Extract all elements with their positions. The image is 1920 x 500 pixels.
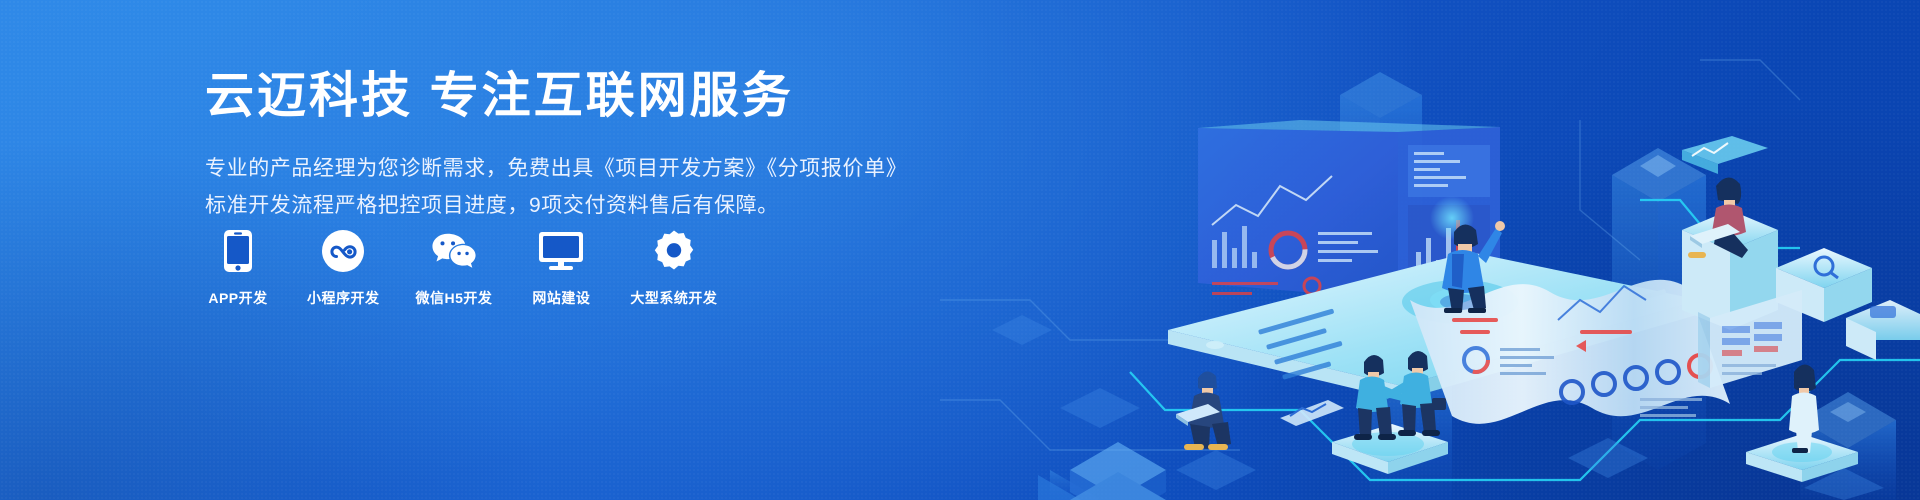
mobile-phone-icon [215,228,261,274]
service-item-large-system[interactable]: 大型系统开发 [630,228,717,308]
service-label: 大型系统开发 [630,288,717,308]
service-label: 微信H5开发 [416,288,493,308]
service-list: APP开发 小程序开发 [205,228,717,308]
service-label: 小程序开发 [307,288,380,308]
woman-on-pedestal-with-laptop [1682,136,1778,330]
mini-program-icon [320,228,366,274]
chart-speech-bubble [1682,136,1768,174]
service-item-mini-program[interactable]: 小程序开发 [307,228,380,308]
monitor-icon [538,228,584,274]
wechat-icon [431,228,477,274]
hero-illustration [940,0,1920,500]
hero-subtitle: 专业的产品经理为您诊断需求，免费出具《项目开发方案》《分项报价单》 标准开发流程… [205,151,905,225]
hero-banner: 云迈科技 专注互联网服务 专业的产品经理为您诊断需求，免费出具《项目开发方案》《… [0,0,1920,500]
service-item-wechat-h5[interactable]: 微信H5开发 [416,228,493,308]
page-title: 云迈科技 专注互联网服务 [205,68,905,126]
service-label: 网站建设 [532,288,590,308]
hero-copy: 云迈科技 专注互联网服务 专业的产品经理为您诊断需求，免费出具《项目开发方案》《… [205,68,905,224]
right-small-device [1846,300,1920,360]
gear-icon [651,228,697,274]
service-label: APP开发 [208,288,267,308]
service-item-website[interactable]: 网站建设 [528,228,594,308]
subtitle-line-1: 专业的产品经理为您诊断需求，免费出具《项目开发方案》《分项报价单》 [205,151,905,188]
subtitle-line-2: 标准开发流程严格把控项目进度，9项交付资料售后有保障。 [205,188,905,225]
service-item-app[interactable]: APP开发 [205,228,271,308]
